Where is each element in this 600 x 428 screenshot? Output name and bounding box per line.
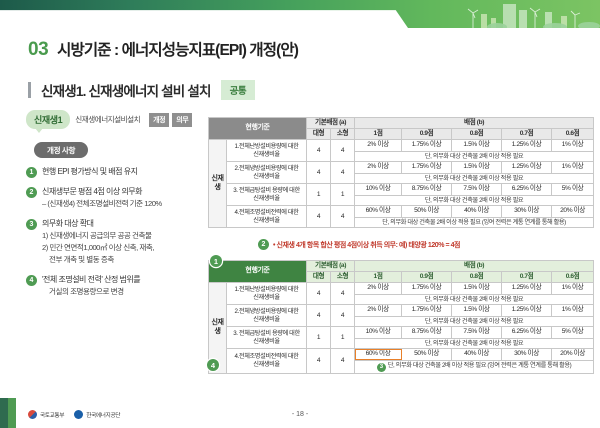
revision-panel: 신재생1 신재생에너지설비설치 개정 의무 개정 사항 1 현행 EPI 평가방…	[26, 110, 206, 306]
col-header-score: 배점 (b)	[355, 261, 594, 272]
col-header-score: 배점 (b)	[355, 118, 594, 129]
table-top-wrapper: 현행기준 기본배점 (a) 배점 (b) 대형 소형 1점 0.9점 0.8점 …	[208, 117, 594, 228]
col-header-score-4: 0.7점	[502, 272, 552, 283]
cell-value: 40% 이상	[452, 349, 502, 360]
cell-value-highlighted: 60% 이상	[355, 349, 402, 360]
cell-value: 1.25% 이상	[502, 305, 552, 316]
cell-large: 1	[307, 327, 331, 349]
footer-edge-accent-dark	[0, 398, 8, 428]
chip-revision: 개정	[149, 113, 169, 127]
col-header-score-5: 0.6점	[552, 129, 594, 140]
korea-energy-agency-logo-icon	[74, 410, 83, 419]
tag-bubble-label: 신재생1	[26, 110, 70, 129]
cell-value: 60% 이상	[355, 206, 402, 217]
col-header-base-score: 기본배점 (a)	[307, 261, 355, 272]
col-header-current: 현행기준	[209, 261, 307, 283]
cell-value: 20% 이상	[552, 206, 594, 217]
table-header-row: 현행기준 기본배점 (a) 배점 (b)	[209, 118, 594, 129]
subtitle-accent-bar	[28, 82, 31, 98]
col-header-small: 소형	[331, 129, 355, 140]
item-text: 현행 EPI 평가방식 및 배점 유지	[42, 167, 137, 176]
page-title: 03 시방기준 : 에너지성능지표(EPI) 개정(안)	[28, 38, 298, 61]
row-label: 3. 전체급탕설비 용량에 대한 신재생비율	[227, 327, 307, 349]
cell-value: 2% 이상	[355, 283, 402, 294]
cell-value: 30% 이상	[502, 206, 552, 217]
header-white-cut	[0, 0, 408, 28]
logo-label: 국토교통부	[40, 411, 64, 419]
cell-small: 4	[331, 349, 355, 373]
list-item: 3 의무화 대상 확대 1) 신재생에너지 공급의무 공공 건축물 2) 민간 …	[26, 218, 206, 266]
cell-value: 6.25% 이상	[502, 184, 552, 195]
cell-large: 4	[307, 206, 331, 228]
cell-large: 4	[307, 162, 331, 184]
epi-table-top: 현행기준 기본배점 (a) 배점 (b) 대형 소형 1점 0.9점 0.8점 …	[208, 117, 594, 228]
section-number: 03	[28, 39, 48, 61]
tag-description: 신재생에너지설비설치	[75, 114, 140, 125]
revision-heading: 개정 사항	[34, 142, 88, 158]
footer: 국토교통부 한국에너지공단 - 18 -	[0, 398, 600, 428]
cell-large: 4	[307, 140, 331, 162]
status-badge-common: 공통	[221, 80, 255, 100]
col-header-large: 대형	[307, 272, 331, 283]
row-note: 단, 의무화 대상 건축물 2배 이상 적용 필요	[355, 316, 594, 327]
callout-annotation: 2 • 신재생 4개 항목 합산 평점 4점이상 취득 의무: 예) 태양광 1…	[258, 239, 558, 250]
cell-value: 1.5% 이상	[452, 162, 502, 173]
tag-row: 신재생1 신재생에너지설비설치 개정 의무	[26, 110, 206, 129]
row-label: 3. 전체급탕설비 용량에 대한 신재생비율	[227, 184, 307, 206]
table-header-row: 현행기준 기본배점 (a) 배점 (b)	[209, 261, 594, 272]
title-text: 시방기준 : 에너지성능지표(EPI) 개정(안)	[57, 38, 298, 60]
cell-value: 40% 이상	[452, 206, 502, 217]
logo-energy-agency: 한국에너지공단	[74, 410, 120, 419]
list-item: 1 현행 EPI 평가방식 및 배점 유지	[26, 166, 206, 178]
cell-value: 1.5% 이상	[452, 305, 502, 316]
note-number-badge: 3	[377, 363, 386, 372]
cell-value: 1% 이상	[552, 162, 594, 173]
col-header-small: 소형	[331, 272, 355, 283]
cell-large: 1	[307, 184, 331, 206]
col-header-score-4: 0.7점	[502, 129, 552, 140]
cell-value: 7.5% 이상	[452, 327, 502, 338]
cell-small: 4	[331, 162, 355, 184]
row-note: 단, 의무화 대상 건축물 2배 이상 적용 필요	[355, 294, 594, 305]
page-number: - 18 -	[292, 411, 308, 418]
cell-value: 1.75% 이상	[402, 162, 452, 173]
cell-value: 50% 이상	[402, 349, 452, 360]
cell-value: 5% 이상	[552, 184, 594, 195]
cell-value: 1.25% 이상	[502, 283, 552, 294]
logo-ministry: 국토교통부	[28, 410, 64, 419]
cell-value: 1.25% 이상	[502, 162, 552, 173]
callout-number-badge: 2	[258, 239, 269, 250]
epi-table-bottom: 현행기준 기본배점 (a) 배점 (b) 대형 소형 1점 0.9점 0.8점 …	[208, 260, 594, 374]
cell-large: 4	[307, 305, 331, 327]
col-header-score-3: 0.8점	[452, 129, 502, 140]
footer-logos: 국토교통부 한국에너지공단	[28, 410, 120, 419]
cell-value: 1% 이상	[552, 140, 594, 151]
cell-value: 20% 이상	[552, 349, 594, 360]
cell-value: 2% 이상	[355, 140, 402, 151]
tag-chips: 개정 의무	[149, 113, 192, 127]
cell-value: 1.75% 이상	[402, 283, 452, 294]
green-city-skyline-icon	[385, 0, 600, 28]
cell-value: 1.5% 이상	[452, 283, 502, 294]
marker-badge-4: 4	[207, 359, 219, 371]
cell-value: 5% 이상	[552, 327, 594, 338]
table-row: 신재생 1.전체난방설비용량에 대한 신재생비율 4 4 2% 이상 1.75%…	[209, 283, 594, 294]
cell-value: 2% 이상	[355, 162, 402, 173]
cell-value: 30% 이상	[502, 349, 552, 360]
slide-root: 03 시방기준 : 에너지성능지표(EPI) 개정(안) 신재생1. 신재생에너…	[0, 0, 600, 428]
row-note: 단, 의무화 대상 건축물 2배 이상 적용 필요 (잉여 전력은 계통 연계를…	[355, 217, 594, 228]
list-item: 4 '전체 조명설비 전력' 산정 범위를 거실의 조명용량으로 변경	[26, 274, 206, 298]
item-number-badge: 3	[26, 219, 37, 230]
item-number-badge: 1	[26, 167, 37, 178]
table-row: 3. 전체급탕설비 용량에 대한 신재생비율 1 1 10% 이상 8.75% …	[209, 184, 594, 195]
row-label: 2.전체냉방설비용량에 대한 신재생비율	[227, 162, 307, 184]
row-label: 4.전체조명설비전력에 대한 신재생비율	[227, 349, 307, 373]
table-row: 2.전체냉방설비용량에 대한 신재생비율 4 4 2% 이상 1.75% 이상 …	[209, 305, 594, 316]
table-row: 4.전체조명설비전력에 대한 신재생비율 4 4 60% 이상 50% 이상 4…	[209, 206, 594, 217]
cell-small: 4	[331, 206, 355, 228]
item-subtext: – (신재생4) 전체조명설비전력 기준 120%	[42, 199, 162, 208]
subtitle-row: 신재생1. 신재생에너지 설비 설치 공통	[28, 80, 255, 100]
cell-value: 50% 이상	[402, 206, 452, 217]
item-subtext: 전부 개축 및 별동 증축	[42, 255, 114, 264]
cell-small: 1	[331, 327, 355, 349]
item-number-badge: 2	[26, 187, 37, 198]
subtitle-text: 신재생1. 신재생에너지 설비 설치	[41, 80, 211, 100]
table-row: 4.전체조명설비전력에 대한 신재생비율 4 4 60% 이상 50% 이상 4…	[209, 349, 594, 360]
list-item: 2 신재생부문 평점 4점 이상 의무화 – (신재생4) 전체조명설비전력 기…	[26, 186, 206, 210]
ministry-land-infra-transport-logo-icon	[28, 410, 37, 419]
cell-value: 8.75% 이상	[402, 184, 452, 195]
col-header-score-1: 1점	[355, 129, 402, 140]
item-subtext: 2) 민간 연면적1,000㎡ 이상 신축, 재축,	[42, 243, 154, 252]
cell-value: 8.75% 이상	[402, 327, 452, 338]
cell-value: 1.5% 이상	[452, 140, 502, 151]
cell-large: 4	[307, 349, 331, 373]
cell-value: 1.75% 이상	[402, 305, 452, 316]
cell-small: 4	[331, 140, 355, 162]
item-text: '전체 조명설비 전력' 산정 범위를	[42, 275, 140, 284]
row-label: 2.전체냉방설비용량에 대한 신재생비율	[227, 305, 307, 327]
row-label: 1.전체난방설비용량에 대한 신재생비율	[227, 140, 307, 162]
cell-value: 1% 이상	[552, 305, 594, 316]
cell-value: 2% 이상	[355, 305, 402, 316]
col-header-base-score: 기본배점 (a)	[307, 118, 355, 129]
cell-value: 6.25% 이상	[502, 327, 552, 338]
col-header-score-2: 0.9점	[402, 272, 452, 283]
cell-large: 4	[307, 283, 331, 305]
row-note: 단, 의무화 대상 건축물 2배 이상 적용 필요 (잉여 전력은 계통 연계를…	[388, 362, 572, 369]
cell-value: 1.25% 이상	[502, 140, 552, 151]
row-note: 단, 의무화 대상 건축물 2배 이상 적용 필요	[355, 195, 594, 206]
row-note: 단, 의무화 대상 건축물 2배 이상 적용 필요	[355, 151, 594, 162]
row-note: 단, 의무화 대상 건축물 2배 이상 적용 필요	[355, 338, 594, 349]
cell-value: 1.75% 이상	[402, 140, 452, 151]
col-header-score-1: 1점	[355, 272, 402, 283]
col-header-score-2: 0.9점	[402, 129, 452, 140]
cell-small: 1	[331, 184, 355, 206]
item-text: 의무화 대상 확대	[42, 219, 93, 228]
cell-value: 10% 이상	[355, 327, 402, 338]
cell-value: 1% 이상	[552, 283, 594, 294]
row-label: 1.전체난방설비용량에 대한 신재생비율	[227, 283, 307, 305]
item-number-badge: 4	[26, 275, 37, 286]
cell-small: 4	[331, 305, 355, 327]
cell-small: 4	[331, 283, 355, 305]
row-label: 4.전체조명설비전력에 대한 신재생비율	[227, 206, 307, 228]
cell-value: 7.5% 이상	[452, 184, 502, 195]
logo-label: 한국에너지공단	[86, 411, 120, 419]
cell-value: 10% 이상	[355, 184, 402, 195]
item-subtext: 거실의 조명용량으로 변경	[42, 287, 124, 296]
revision-item-list: 1 현행 EPI 평가방식 및 배점 유지 2 신재생부문 평점 4점 이상 의…	[26, 166, 206, 298]
header-band	[0, 0, 600, 28]
marker-badge-1: 1	[210, 255, 222, 267]
table-bottom-wrapper: 현행기준 기본배점 (a) 배점 (b) 대형 소형 1점 0.9점 0.8점 …	[208, 260, 594, 374]
chip-mandatory: 의무	[172, 113, 192, 127]
callout-text: • 신재생 4개 항목 합산 평점 4점이상 취득 의무: 예) 태양광 120…	[273, 240, 460, 250]
col-header-large: 대형	[307, 129, 331, 140]
row-note: 단, 의무화 대상 건축물 2배 이상 적용 필요	[355, 173, 594, 184]
table-row: 3. 전체급탕설비 용량에 대한 신재생비율 1 1 10% 이상 8.75% …	[209, 327, 594, 338]
item-text: 신재생부문 평점 4점 이상 의무화	[42, 187, 142, 196]
item-subtext: 1) 신재생에너지 공급의무 공공 건축물	[42, 231, 151, 240]
side-label: 신재생	[209, 140, 227, 228]
col-header-score-3: 0.8점	[452, 272, 502, 283]
table-row: 2.전체냉방설비용량에 대한 신재생비율 4 4 2% 이상 1.75% 이상 …	[209, 162, 594, 173]
table-row: 신재생 1.전체난방설비용량에 대한 신재생비율 4 4 2% 이상 1.75%…	[209, 140, 594, 151]
col-header-current: 현행기준	[209, 118, 307, 140]
col-header-score-5: 0.6점	[552, 272, 594, 283]
